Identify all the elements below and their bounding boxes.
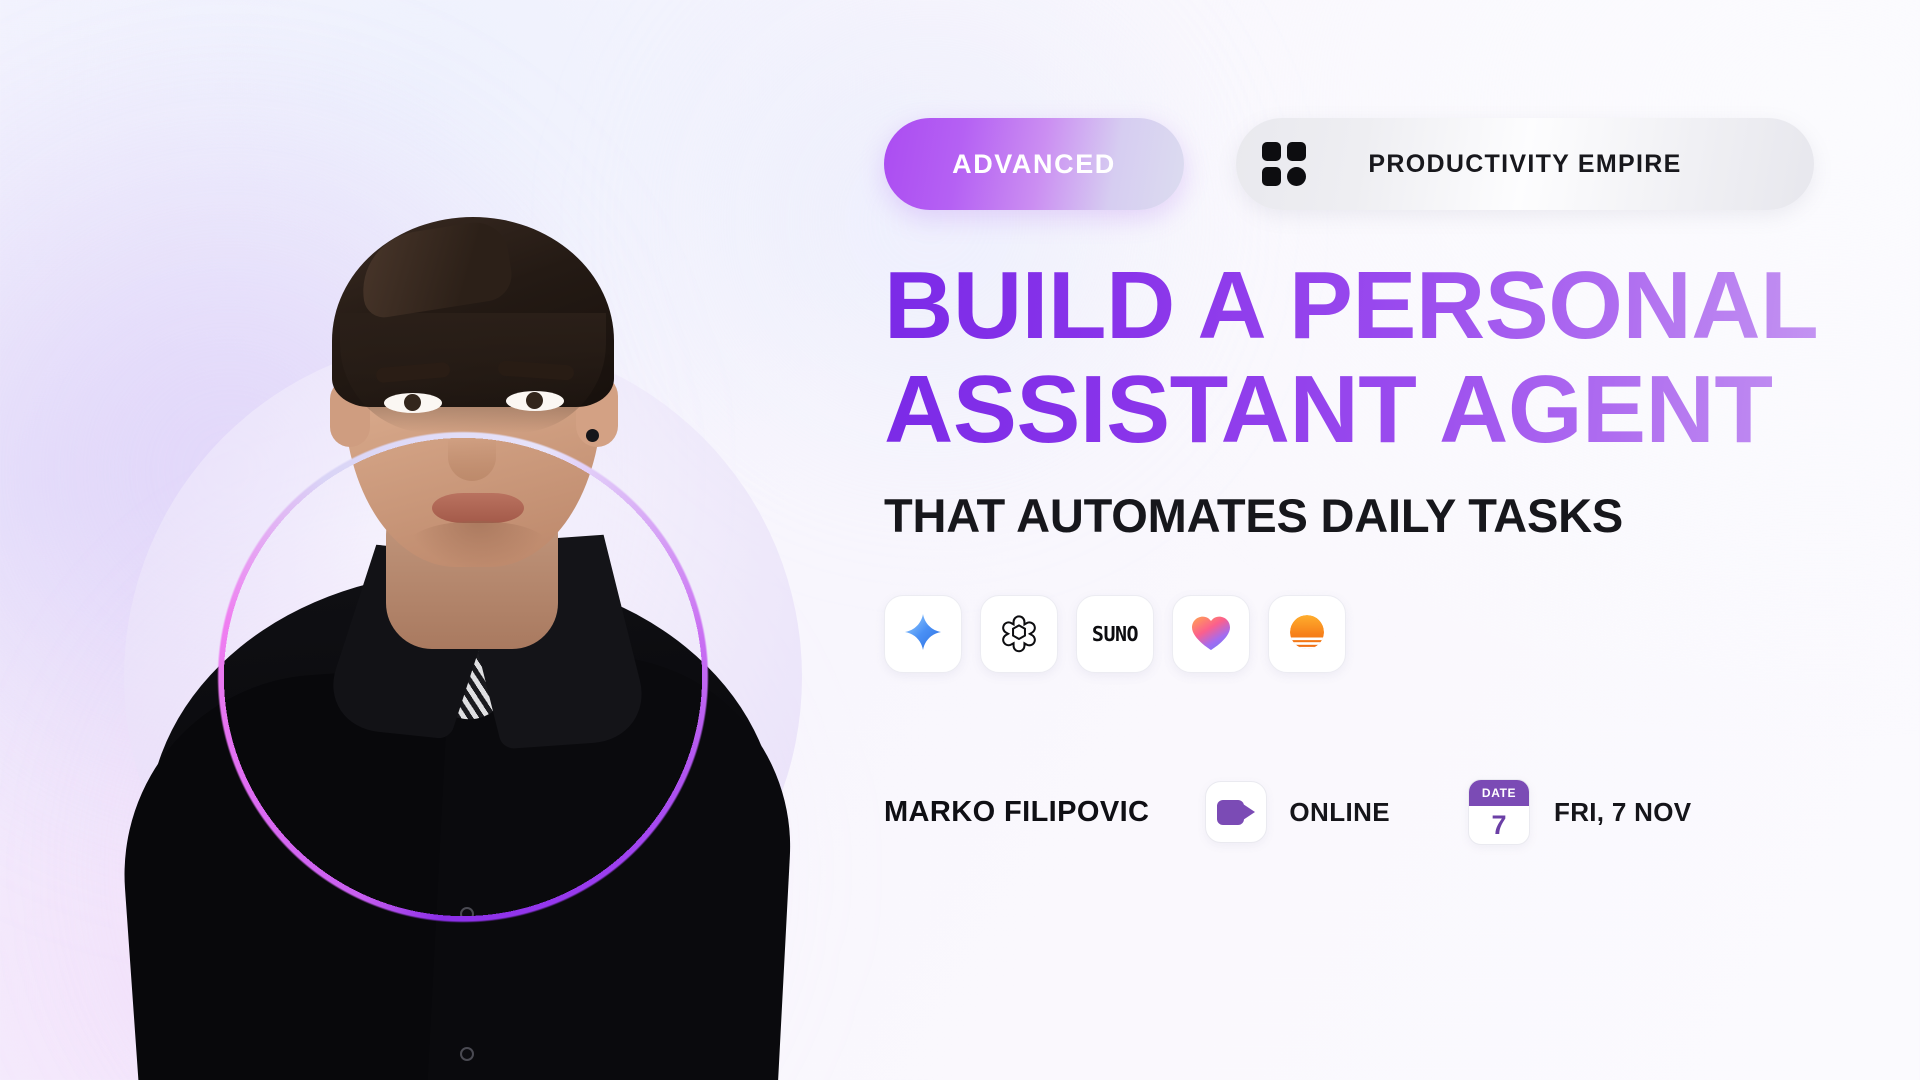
- level-badge-label: ADVANCED: [952, 149, 1116, 180]
- headline-subtitle: THAT AUTOMATES DAILY TASKS: [884, 488, 1884, 543]
- brand-badge[interactable]: PRODUCTIVITY EMPIRE: [1236, 118, 1814, 210]
- footer-row: MARKO FILIPOVIC ONLINE DATE 7 FRI, 7 NOV: [884, 779, 1884, 845]
- tool-logo-row: SUNO: [884, 595, 1884, 673]
- level-badge[interactable]: ADVANCED: [884, 118, 1184, 210]
- lovable-heart-icon: [1188, 611, 1234, 658]
- event-date-label: FRI, 7 NOV: [1554, 797, 1691, 828]
- portrait-gradient-ring: [118, 332, 808, 1022]
- content-column: ADVANCED PRODUCTIVITY EMPIRE BUILD A PER…: [884, 118, 1884, 845]
- brand-badge-label: PRODUCTIVITY EMPIRE: [1236, 150, 1814, 179]
- video-camera-icon: [1205, 781, 1267, 843]
- speaker-portrait: [118, 332, 808, 1022]
- speaker-name: MARKO FILIPOVIC: [884, 796, 1149, 829]
- openai-icon: [998, 611, 1040, 658]
- headline-block: BUILD A PERSONAL ASSISTANT AGENT THAT AU…: [884, 258, 1884, 543]
- calendar-day: 7: [1469, 806, 1529, 844]
- headline-line-2: ASSISTANT AGENT: [884, 362, 1884, 458]
- tool-gemini[interactable]: [884, 595, 962, 673]
- tool-lovable[interactable]: [1172, 595, 1250, 673]
- event-date: DATE 7 FRI, 7 NOV: [1468, 779, 1691, 845]
- tool-bolt[interactable]: [1268, 595, 1346, 673]
- suno-icon: SUNO: [1092, 622, 1138, 646]
- bolt-sun-icon: [1284, 609, 1330, 660]
- tool-suno[interactable]: SUNO: [1076, 595, 1154, 673]
- badge-row: ADVANCED PRODUCTIVITY EMPIRE: [884, 118, 1884, 210]
- gemini-sparkle-icon: [901, 610, 945, 659]
- delivery-mode: ONLINE: [1205, 781, 1390, 843]
- headline-line-1: BUILD A PERSONAL: [884, 258, 1884, 354]
- calendar-header: DATE: [1469, 780, 1529, 806]
- tool-openai[interactable]: [980, 595, 1058, 673]
- delivery-mode-label: ONLINE: [1289, 797, 1390, 828]
- calendar-icon: DATE 7: [1468, 779, 1530, 845]
